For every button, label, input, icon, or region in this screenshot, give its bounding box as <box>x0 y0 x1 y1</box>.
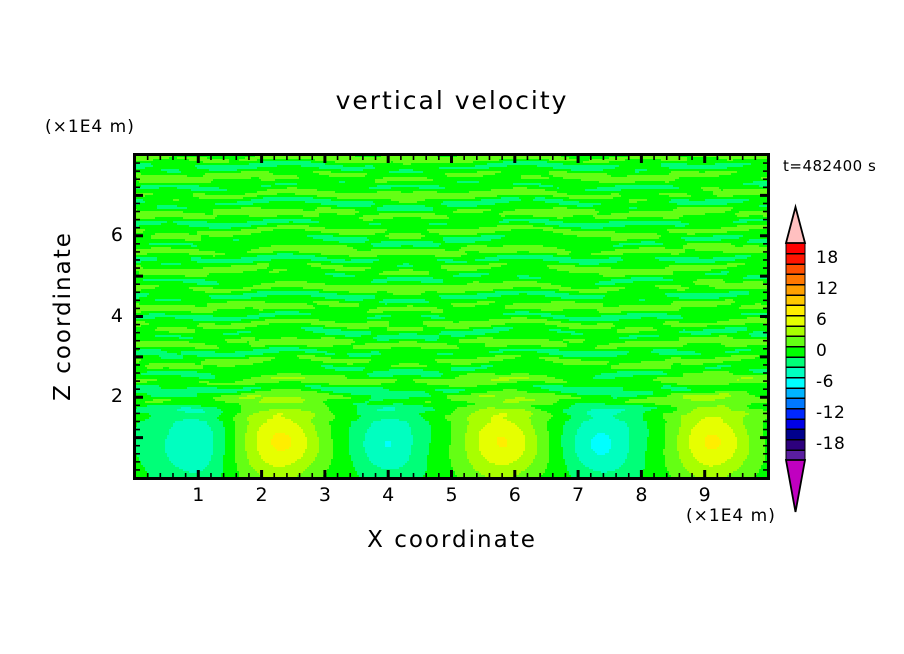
colorbar-tick-label: 0 <box>816 341 827 361</box>
x-tick-label: 8 <box>621 484 661 506</box>
colorbar-tick-label: -6 <box>816 372 834 392</box>
colorbar-tick-label: -18 <box>816 434 845 454</box>
x-tick-label: 6 <box>495 484 535 506</box>
x-tick-label: 4 <box>368 484 408 506</box>
colorbar <box>786 207 805 512</box>
x-tick-label: 7 <box>558 484 598 506</box>
x-tick-label: 9 <box>685 484 725 506</box>
contour-plot <box>0 0 904 654</box>
y-tick-label: 4 <box>93 305 123 327</box>
colorbar-tick-label: 12 <box>816 279 839 299</box>
colorbar-tick-label: 6 <box>816 310 827 330</box>
y-tick-label: 6 <box>93 224 123 246</box>
x-tick-label: 2 <box>242 484 282 506</box>
x-tick-label: 3 <box>305 484 345 506</box>
x-tick-label: 1 <box>178 484 218 506</box>
colorbar-tick-label: -12 <box>816 403 845 423</box>
figure-canvas: vertical velocity (×1E4 m) (×1E4 m) t=48… <box>0 0 904 654</box>
y-tick-label: 2 <box>93 385 123 407</box>
x-tick-label: 5 <box>432 484 472 506</box>
colorbar-tick-label: 18 <box>816 248 839 268</box>
